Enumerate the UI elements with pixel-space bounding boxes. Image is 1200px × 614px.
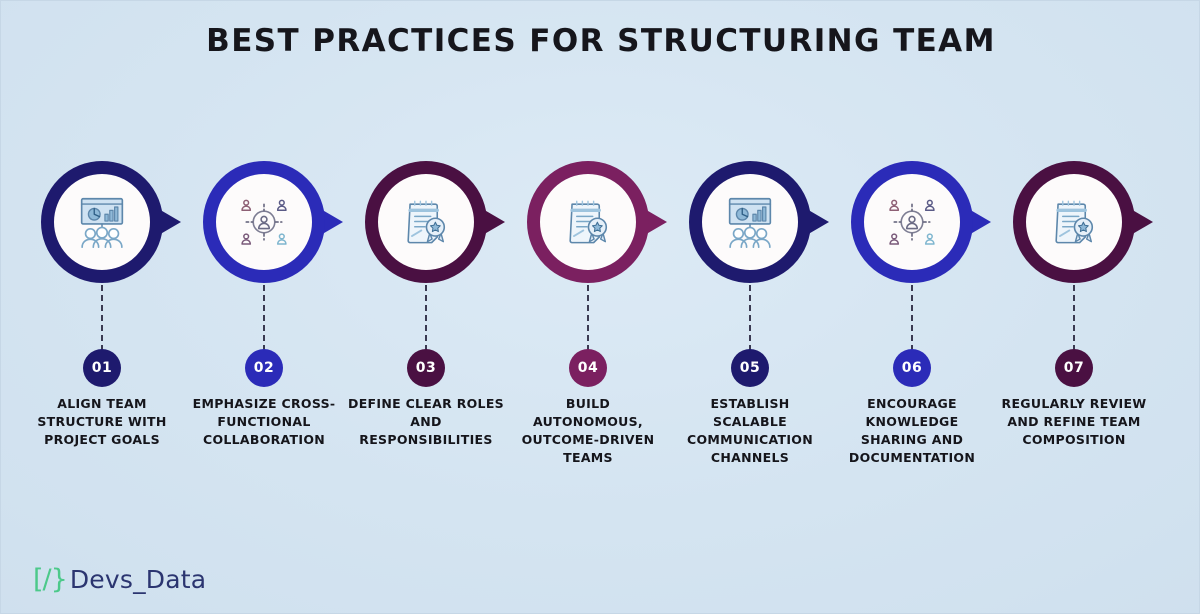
notepad-award-icon — [1037, 185, 1111, 259]
dashed-connector — [911, 285, 913, 351]
dashed-connector — [587, 285, 589, 351]
step-number-badge: 06 — [893, 349, 931, 387]
step-07[interactable]: 07REGULARLY REVIEW AND REFINE TEAM COMPO… — [993, 161, 1155, 491]
page-title: BEST PRACTICES FOR STRUCTURING TEAM — [1, 23, 1200, 59]
presentation-board-team-icon — [65, 185, 139, 259]
step-02[interactable]: 02EMPHASIZE CROSS- FUNCTIONAL COLLABORAT… — [183, 161, 345, 491]
step-label: DEFINE CLEAR ROLES AND RESPONSIBILITIES — [339, 395, 513, 449]
step-circle[interactable] — [1013, 161, 1135, 283]
step-circle[interactable] — [365, 161, 487, 283]
step-label: ALIGN TEAM STRUCTURE WITH PROJECT GOALS — [15, 395, 189, 449]
step-number-badge: 07 — [1055, 349, 1093, 387]
step-label: ENCOURAGE KNOWLEDGE SHARING AND DOCUMENT… — [825, 395, 999, 468]
step-05[interactable]: 05ESTABLISH SCALABLE COMMUNICATION CHANN… — [669, 161, 831, 491]
step-number-badge: 03 — [407, 349, 445, 387]
step-node — [1013, 161, 1135, 283]
hand-holding-team-icon — [551, 185, 625, 259]
code-bracket-icon: [/} — [33, 564, 67, 595]
step-06[interactable]: 06ENCOURAGE KNOWLEDGE SHARING AND DOCUME… — [831, 161, 993, 491]
dashed-connector — [749, 285, 751, 351]
brand-name: Devs_Data — [70, 565, 206, 594]
step-04[interactable]: 04BUILD AUTONOMOUS, OUTCOME-DRIVEN TEAMS — [507, 161, 669, 491]
step-01[interactable]: 01ALIGN TEAM STRUCTURE WITH PROJECT GOAL… — [21, 161, 183, 491]
presentation-board-team-icon — [713, 185, 787, 259]
brand-logo: [/} Devs_Data — [33, 564, 206, 595]
step-node — [527, 161, 649, 283]
step-label: REGULARLY REVIEW AND REFINE TEAM COMPOSI… — [987, 395, 1161, 449]
step-number-badge: 02 — [245, 349, 283, 387]
step-label: BUILD AUTONOMOUS, OUTCOME-DRIVEN TEAMS — [501, 395, 675, 468]
step-number-badge: 01 — [83, 349, 121, 387]
network-collaboration-icon — [875, 185, 949, 259]
step-node — [851, 161, 973, 283]
dashed-connector — [1073, 285, 1075, 351]
infographic-canvas: BEST PRACTICES FOR STRUCTURING TEAM 01AL… — [0, 0, 1200, 614]
step-label: ESTABLISH SCALABLE COMMUNICATION CHANNEL… — [663, 395, 837, 468]
step-node — [41, 161, 163, 283]
step-circle[interactable] — [41, 161, 163, 283]
step-circle[interactable] — [851, 161, 973, 283]
step-number-badge: 05 — [731, 349, 769, 387]
step-circle[interactable] — [527, 161, 649, 283]
step-label: EMPHASIZE CROSS- FUNCTIONAL COLLABORATIO… — [177, 395, 351, 449]
network-collaboration-icon — [227, 185, 301, 259]
steps-row: 01ALIGN TEAM STRUCTURE WITH PROJECT GOAL… — [1, 161, 1200, 491]
dashed-connector — [101, 285, 103, 351]
dashed-connector — [425, 285, 427, 351]
step-circle[interactable] — [203, 161, 325, 283]
step-node — [365, 161, 487, 283]
step-03[interactable]: 03DEFINE CLEAR ROLES AND RESPONSIBILITIE… — [345, 161, 507, 491]
step-number-badge: 04 — [569, 349, 607, 387]
step-circle[interactable] — [689, 161, 811, 283]
notepad-award-icon — [389, 185, 463, 259]
step-node — [689, 161, 811, 283]
step-node — [203, 161, 325, 283]
dashed-connector — [263, 285, 265, 351]
